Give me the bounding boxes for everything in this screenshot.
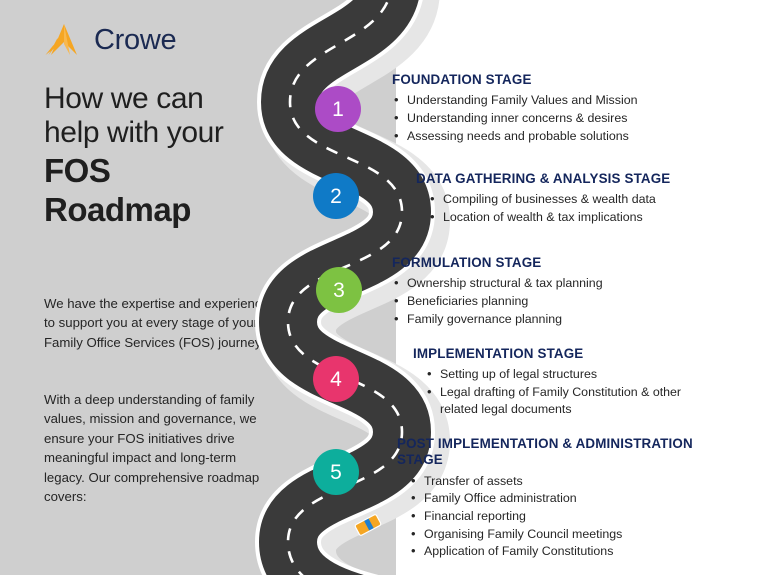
stage-badge-1[interactable]: 1 — [315, 86, 361, 132]
stage-title-3: FORMULATION STAGE — [392, 255, 722, 271]
list-item: Organising Family Council meetings — [409, 526, 742, 543]
brand-lockup: Crowe — [44, 22, 176, 58]
list-item: Setting up of legal structures — [425, 366, 718, 383]
list-item: Legal drafting of Family Constitution & … — [425, 384, 718, 417]
stage-title-2: DATA GATHERING & ANALYSIS STAGE — [416, 171, 736, 187]
stage-list-4: Setting up of legal structures Legal dra… — [413, 366, 718, 417]
stage-block-5: POST IMPLEMENTATION & ADMINISTRATION STA… — [397, 436, 742, 561]
stage-list-3: Ownership structural & tax planning Bene… — [392, 275, 722, 327]
list-item: Transfer of assets — [409, 473, 742, 490]
stage-badge-3[interactable]: 3 — [316, 267, 362, 313]
stage-title-5: POST IMPLEMENTATION & ADMINISTRATION STA… — [397, 436, 742, 469]
list-item: Ownership structural & tax planning — [392, 275, 722, 292]
headline-line-2: help with your — [44, 116, 284, 150]
list-item: Family Office administration — [409, 490, 742, 507]
list-item: Understanding inner concerns & desires — [392, 110, 722, 127]
stage-badge-2[interactable]: 2 — [313, 173, 359, 219]
list-item: Assessing needs and probable solutions — [392, 128, 722, 145]
stage-list-1: Understanding Family Values and Mission … — [392, 92, 722, 144]
page-title: How we can help with your FOS Roadmap — [44, 82, 284, 228]
stage-list-2: Compiling of businesses & wealth data Lo… — [416, 191, 736, 225]
intro-paragraph-2: With a deep understanding of family valu… — [44, 390, 269, 506]
stage-number-2: 2 — [330, 186, 342, 207]
stage-badge-5[interactable]: 5 — [313, 449, 359, 495]
list-item: Beneficiaries planning — [392, 293, 722, 310]
stage-block-1: FOUNDATION STAGE Understanding Family Va… — [392, 72, 722, 145]
list-item: Application of Family Constitutions — [409, 543, 742, 560]
infographic-canvas: Crowe How we can help with your FOS Road… — [0, 0, 767, 575]
stage-list-5: Transfer of assets Family Office adminis… — [397, 473, 742, 560]
brand-name: Crowe — [94, 26, 176, 55]
headline-line-3: FOS — [44, 152, 284, 189]
stage-number-1: 1 — [332, 99, 344, 120]
list-item: Financial reporting — [409, 508, 742, 525]
stage-badge-4[interactable]: 4 — [313, 356, 359, 402]
stage-block-3: FORMULATION STAGE Ownership structural &… — [392, 255, 722, 328]
headline-line-4: Roadmap — [44, 191, 284, 228]
stage-number-3: 3 — [333, 280, 345, 301]
stage-title-4: IMPLEMENTATION STAGE — [413, 346, 718, 362]
list-item: Understanding Family Values and Mission — [392, 92, 722, 109]
stage-number-4: 4 — [330, 369, 342, 390]
stage-block-4: IMPLEMENTATION STAGE Setting up of legal… — [413, 346, 718, 418]
list-item: Compiling of businesses & wealth data — [428, 191, 736, 208]
headline-line-1: How we can — [44, 82, 284, 116]
list-item: Location of wealth & tax implications — [428, 209, 736, 226]
crowe-arrow-logo-icon — [44, 22, 84, 58]
stage-number-5: 5 — [330, 462, 342, 483]
intro-paragraph-1: We have the expertise and experience to … — [44, 294, 269, 352]
list-item: Family governance planning — [392, 311, 722, 328]
stage-title-1: FOUNDATION STAGE — [392, 72, 722, 88]
stage-block-2: DATA GATHERING & ANALYSIS STAGE Compilin… — [416, 171, 736, 227]
